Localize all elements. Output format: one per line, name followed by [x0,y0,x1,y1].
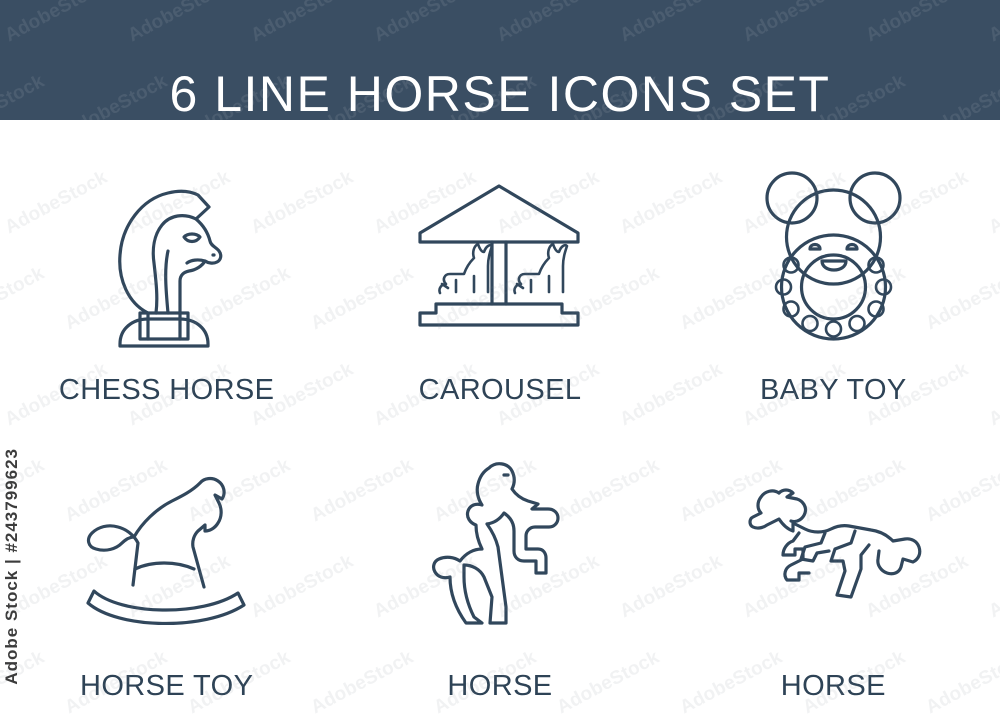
stock-id-watermark: Adobe Stock | #243799623 [2,448,22,685]
baby-rattle-bear-icon[interactable] [667,150,1000,360]
icon-label-horse-galloping: HORSE [781,670,886,703]
rearing-horse-icon[interactable] [333,440,666,650]
icon-cell-horse-rearing[interactable]: HORSE [333,418,666,715]
icon-grid: CHESS HORSE CARO [0,120,1000,715]
galloping-horse-icon[interactable] [667,440,1000,650]
icon-cell-horse-galloping[interactable]: HORSE [667,418,1000,715]
chess-knight-icon[interactable] [0,150,333,360]
icon-label-baby-toy: BABY TOY [760,374,907,407]
page-title: 6 LINE HORSE ICONS SET [0,69,1000,119]
icon-cell-chess-horse[interactable]: CHESS HORSE [0,120,333,418]
page-header: 6 LINE HORSE ICONS SET [0,0,1000,120]
icon-label-chess-horse: CHESS HORSE [59,374,275,407]
rocking-horse-icon[interactable] [0,440,333,650]
carousel-icon[interactable] [333,150,666,360]
icon-label-horse-rearing: HORSE [447,670,552,703]
icon-label-horse-toy: HORSE TOY [80,670,253,703]
icon-cell-carousel[interactable]: CAROUSEL [333,120,666,418]
icon-cell-baby-toy[interactable]: BABY TOY [667,120,1000,418]
icon-cell-horse-toy[interactable]: HORSE TOY [0,418,333,715]
icon-label-carousel: CAROUSEL [419,374,582,407]
